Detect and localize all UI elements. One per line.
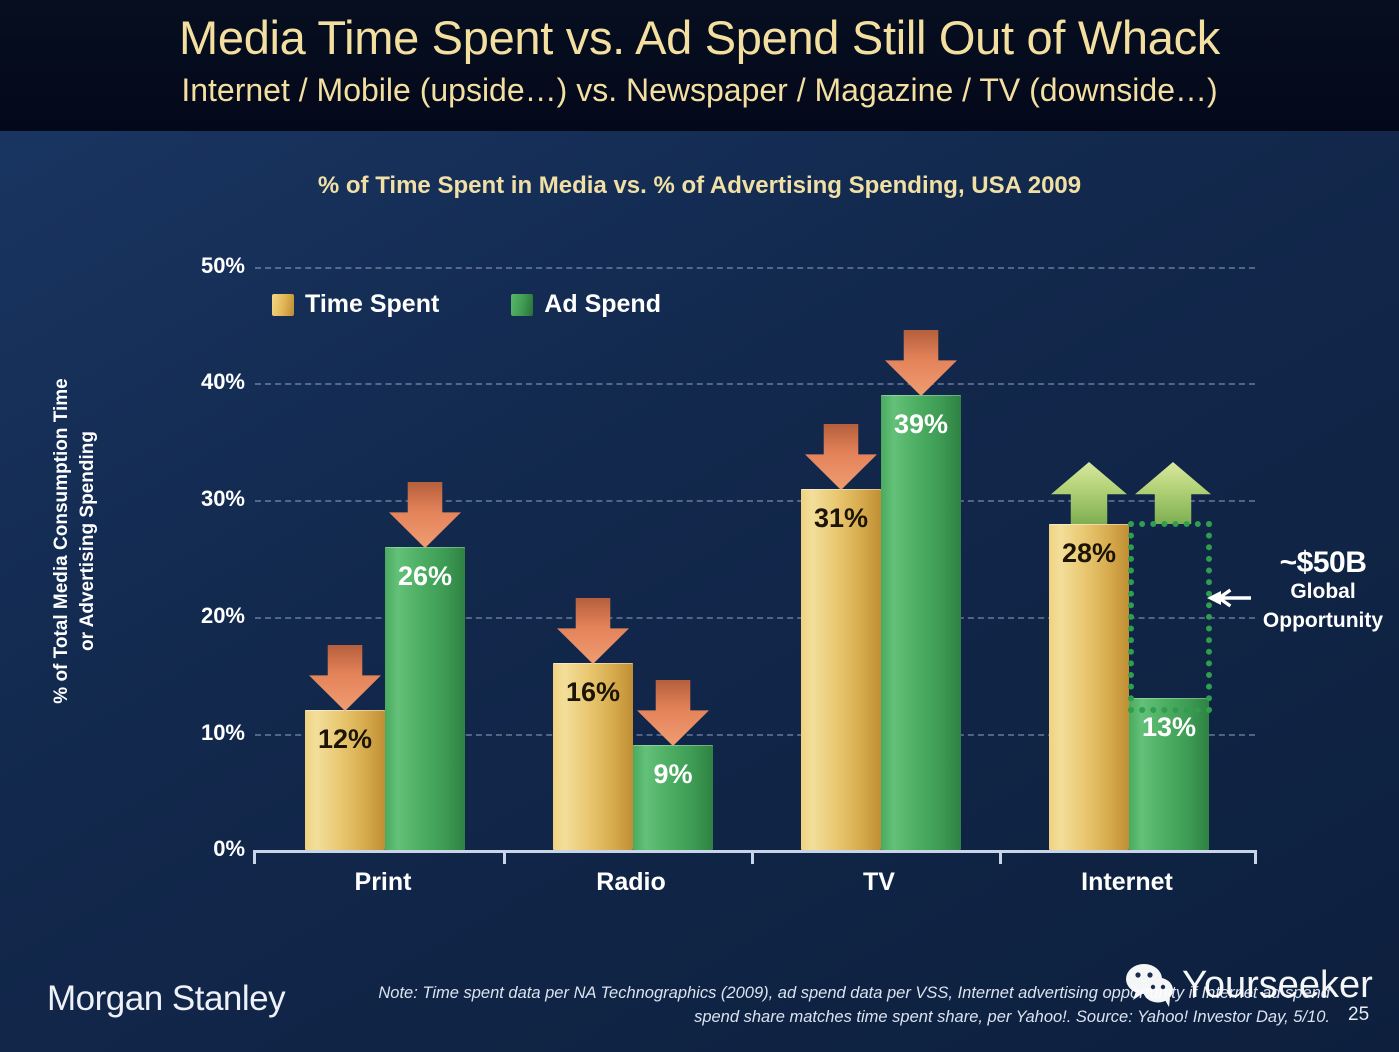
- bar-value-print-time-spent: 12%: [305, 724, 385, 755]
- x-axis-endcap-right: [1254, 850, 1257, 864]
- opportunity-line1: Global: [1248, 577, 1398, 606]
- bar-value-radio-time-spent: 16%: [553, 677, 633, 708]
- legend-label-time-spent: Time Spent: [305, 290, 439, 319]
- gridline-50: [255, 267, 1255, 269]
- y-axis-title: % of Total Media Consumption Time or Adv…: [49, 301, 101, 781]
- down-arrow-tv-time-spent: [805, 424, 877, 490]
- opportunity-annotation: ~$50B Global Opportunity: [1248, 548, 1398, 635]
- opportunity-line2: Opportunity: [1248, 606, 1398, 635]
- slide: Media Time Spent vs. Ad Spend Still Out …: [0, 0, 1399, 1052]
- x-category-label-tv: TV: [759, 868, 999, 897]
- annotation-arrow-icon: [1205, 588, 1251, 608]
- x-axis-tick-3: [999, 850, 1002, 864]
- bar-internet-time-spent[interactable]: 28%: [1049, 524, 1129, 850]
- bar-radio-time-spent[interactable]: 16%: [553, 663, 633, 850]
- bar-internet-ad-spend[interactable]: 13%: [1129, 698, 1209, 850]
- up-arrow-internet-ad-spend: [1135, 462, 1211, 524]
- x-axis-endcap-left: [253, 850, 256, 864]
- legend-item-time-spent[interactable]: Time Spent: [272, 290, 439, 319]
- y-tick-label-40: 40%: [175, 369, 245, 395]
- x-axis-tick-1: [503, 850, 506, 864]
- x-category-label-radio: Radio: [511, 868, 751, 897]
- bar-radio-ad-spend[interactable]: 9%: [633, 745, 713, 850]
- watermark-text: Yourseeker: [1182, 964, 1373, 1007]
- bar-tv-time-spent[interactable]: 31%: [801, 489, 881, 850]
- down-arrow-print-time-spent: [309, 645, 381, 711]
- bar-print-time-spent[interactable]: 12%: [305, 710, 385, 850]
- bar-value-tv-time-spent: 31%: [801, 503, 881, 534]
- y-tick-label-20: 20%: [175, 603, 245, 629]
- legend-swatch-ad-spend: [511, 294, 533, 316]
- footer-note-line2: spend share matches time spent share, pe…: [310, 1005, 1330, 1029]
- y-tick-label-0: 0%: [175, 836, 245, 862]
- legend-item-ad-spend[interactable]: Ad Spend: [511, 290, 661, 319]
- down-arrow-radio-time-spent: [557, 598, 629, 664]
- bar-value-print-ad-spend: 26%: [385, 561, 465, 592]
- y-tick-label-50: 50%: [175, 253, 245, 279]
- x-axis-tick-2: [751, 850, 754, 864]
- chart-plot-area: % of Total Media Consumption Time or Adv…: [0, 0, 1399, 1052]
- bar-tv-ad-spend[interactable]: 39%: [881, 395, 961, 850]
- morgan-stanley-logo: Morgan Stanley: [47, 979, 285, 1019]
- y-axis-title-line1: % of Total Media Consumption Time: [49, 301, 75, 781]
- y-axis-title-line2: or Advertising Spending: [75, 301, 101, 781]
- opportunity-highlight-box: [1128, 521, 1212, 713]
- down-arrow-tv-ad-spend: [885, 330, 957, 396]
- bar-value-radio-ad-spend: 9%: [633, 759, 713, 790]
- y-tick-label-10: 10%: [175, 720, 245, 746]
- legend-label-ad-spend: Ad Spend: [544, 290, 661, 319]
- x-axis-line: [253, 850, 1257, 853]
- bar-print-ad-spend[interactable]: 26%: [385, 547, 465, 850]
- down-arrow-radio-ad-spend: [637, 680, 709, 746]
- chart-legend: Time Spent Ad Spend: [272, 290, 661, 319]
- up-arrow-internet-time-spent: [1051, 462, 1127, 524]
- y-tick-label-30: 30%: [175, 486, 245, 512]
- bar-value-internet-ad-spend: 13%: [1129, 712, 1209, 743]
- down-arrow-print-ad-spend: [389, 482, 461, 548]
- wechat-icon: [1124, 962, 1176, 1008]
- x-category-label-internet: Internet: [1007, 868, 1247, 897]
- legend-swatch-time-spent: [272, 294, 294, 316]
- opportunity-amount: ~$50B: [1248, 548, 1398, 577]
- watermark: Yourseeker: [1124, 962, 1373, 1008]
- bar-value-tv-ad-spend: 39%: [881, 409, 961, 440]
- x-category-label-print: Print: [263, 868, 503, 897]
- gridline-40: [255, 383, 1255, 385]
- bar-value-internet-time-spent: 28%: [1049, 538, 1129, 569]
